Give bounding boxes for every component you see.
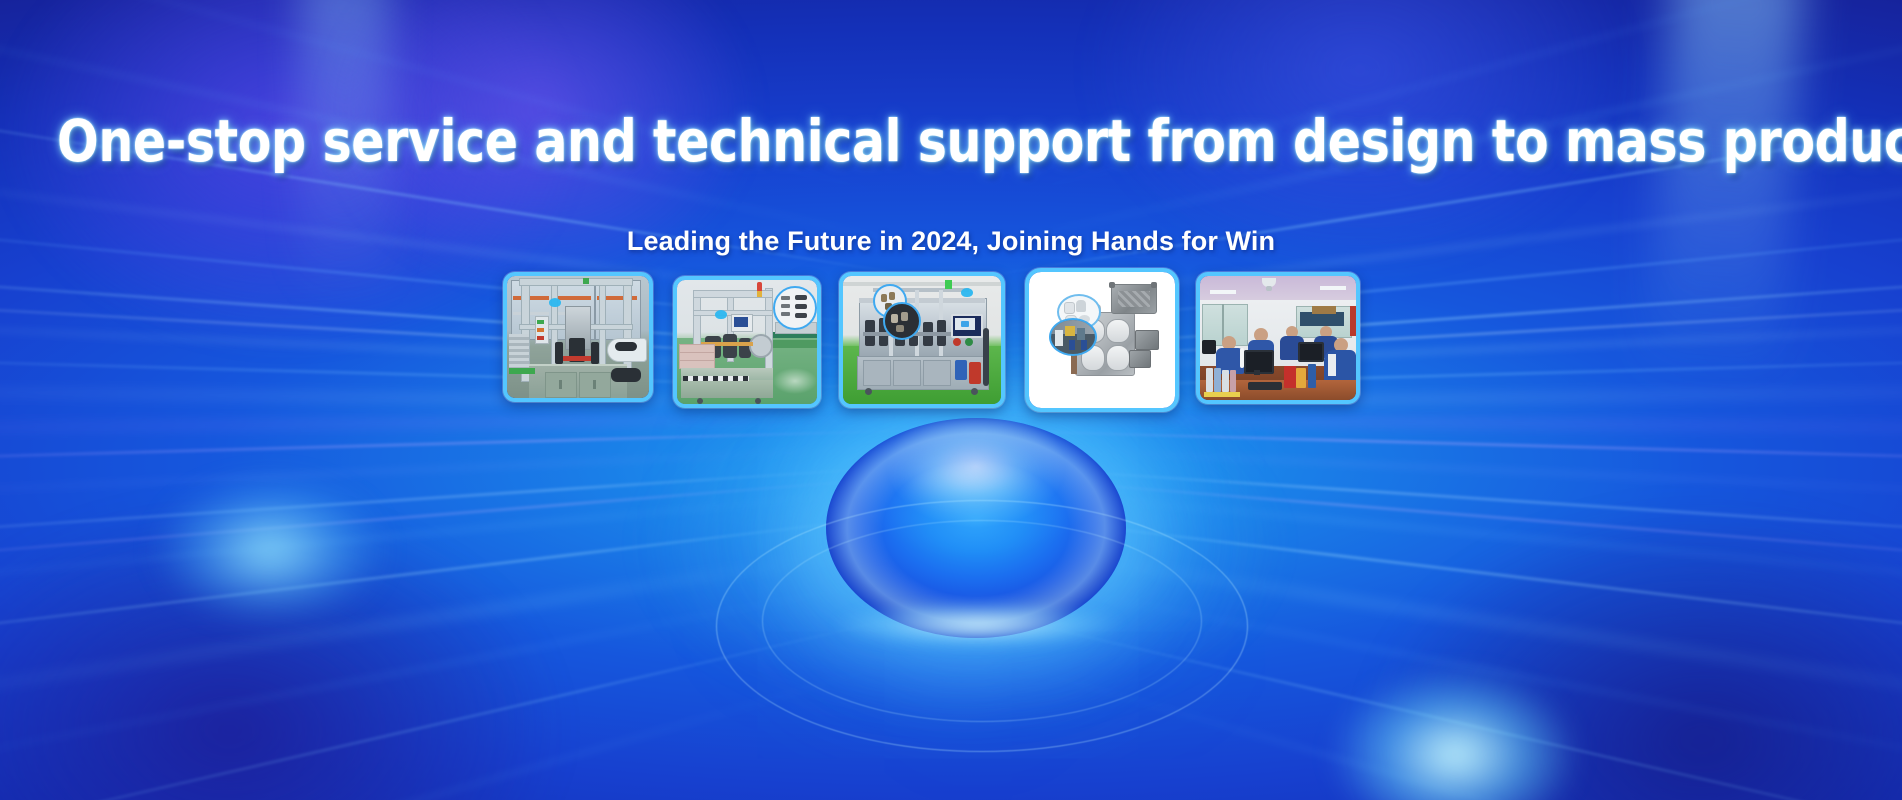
- workshop-inset-icon: [1049, 318, 1097, 356]
- list-item[interactable]: [839, 272, 1005, 408]
- list-item[interactable]: [503, 272, 653, 402]
- thumbnail-strip: [503, 272, 1483, 414]
- thumbnail-image-injection-mold: [1029, 272, 1175, 408]
- product-inset-icon: [773, 286, 817, 330]
- background-glow-right: [1290, 640, 1620, 800]
- list-item[interactable]: [1196, 272, 1360, 404]
- orbit-ring-inner: [762, 520, 1202, 722]
- watermark-logo-icon: [549, 298, 561, 307]
- thumbnail-image-automation-cell: [507, 276, 649, 398]
- promotional-banner: One-stop service and technical support f…: [0, 0, 1902, 800]
- page-title: One-stop service and technical support f…: [57, 112, 1845, 170]
- watermark-logo-icon: [715, 310, 727, 319]
- thumbnail-image-production-line: [843, 276, 1001, 404]
- thumbnail-image-engineering-office: [1200, 276, 1356, 400]
- thumbnail-image-assembly-machine: [677, 280, 817, 404]
- component-inset-dark-icon: [883, 302, 921, 340]
- background-glow-left: [120, 455, 420, 645]
- watermark-logo-icon: [961, 288, 973, 297]
- page-subtitle: Leading the Future in 2024, Joining Hand…: [0, 228, 1902, 255]
- list-item[interactable]: [1025, 268, 1179, 412]
- list-item[interactable]: [673, 276, 821, 408]
